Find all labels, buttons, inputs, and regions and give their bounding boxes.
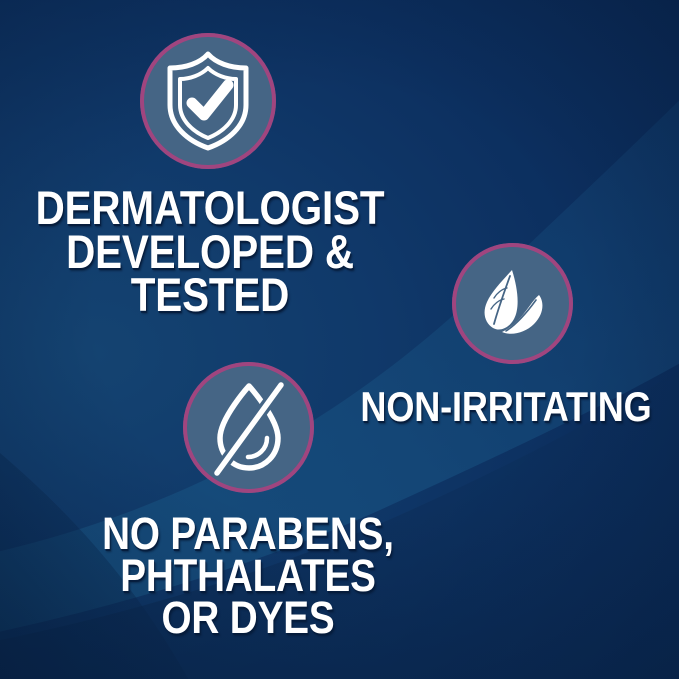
label-dermatologist: DERMATOLOGIST DEVELOPED & TESTED xyxy=(29,186,390,317)
no-droplet-icon xyxy=(203,378,295,478)
badge-non-irritating xyxy=(452,243,573,364)
shield-check-icon xyxy=(160,49,256,153)
label-non-irritating: NON-IRRITATING xyxy=(357,387,655,426)
label-no-parabens: NO PARABENS, PHTHALATES OR DYES xyxy=(78,513,419,639)
badge-dermatologist xyxy=(140,33,276,169)
badge-no-parabens xyxy=(183,362,314,493)
benefits-graphic: DERMATOLOGIST DEVELOPED & TESTED NON-IRR… xyxy=(0,0,679,679)
feathers-icon xyxy=(473,264,553,344)
